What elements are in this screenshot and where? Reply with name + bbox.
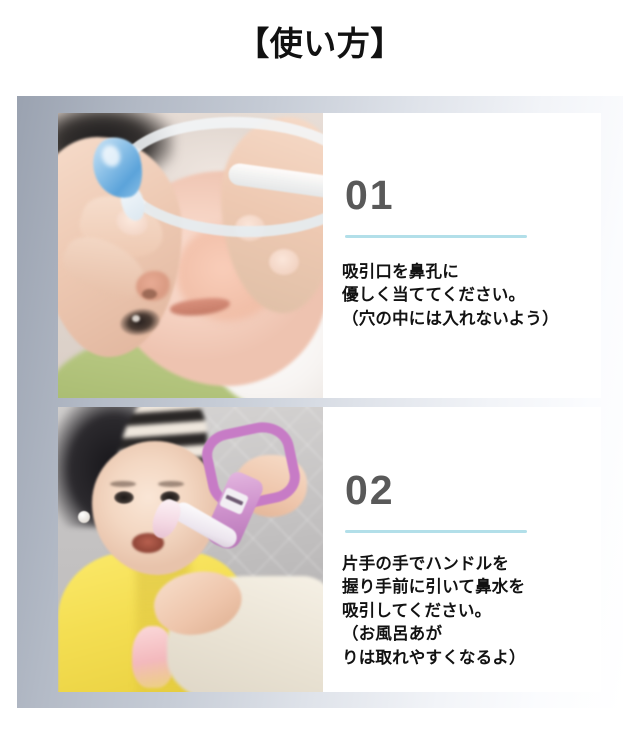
step-photo [58, 407, 323, 692]
step-card: 02 片手の手でハンドルを 握り手前に引いて鼻水を 吸引してください。 （お風呂… [58, 407, 601, 692]
step-divider-rule [345, 235, 527, 238]
baby-eyebrow-shape [110, 481, 136, 487]
step-description: 片手の手でハンドルを 握り手前に引いて鼻水を 吸引してください。 （お風呂あが … [342, 553, 591, 670]
step-card: 01 吸引口を鼻孔に 優しく当ててください。 （穴の中には入れないよう） [58, 113, 601, 398]
baby-nostril-shape [142, 289, 157, 299]
page-title: 【使い方】 [0, 26, 640, 62]
baby-eyebrow-shape [158, 481, 184, 487]
step-card-list: 01 吸引口を鼻孔に 優しく当ててください。 （穴の中には入れないよう） [17, 96, 623, 708]
earring-shape [78, 511, 90, 523]
step-description: 吸引口を鼻孔に 優しく当ててください。 （穴の中には入れないよう） [342, 261, 591, 331]
step-number: 02 [345, 470, 395, 511]
baby-eye-highlight [132, 315, 140, 322]
fingernail-shape [269, 249, 299, 275]
baby-eye-shape [114, 491, 134, 504]
step-number: 01 [345, 175, 395, 216]
step-photo [58, 113, 323, 398]
step-divider-rule [345, 530, 527, 533]
instruction-frame: 01 吸引口を鼻孔に 優しく当ててください。 （穴の中には入れないよう） [17, 96, 623, 708]
step-text-panel: 02 片手の手でハンドルを 握り手前に引いて鼻水を 吸引してください。 （お風呂… [323, 407, 601, 692]
step-text-panel: 01 吸引口を鼻孔に 優しく当ててください。 （穴の中には入れないよう） [323, 113, 601, 398]
